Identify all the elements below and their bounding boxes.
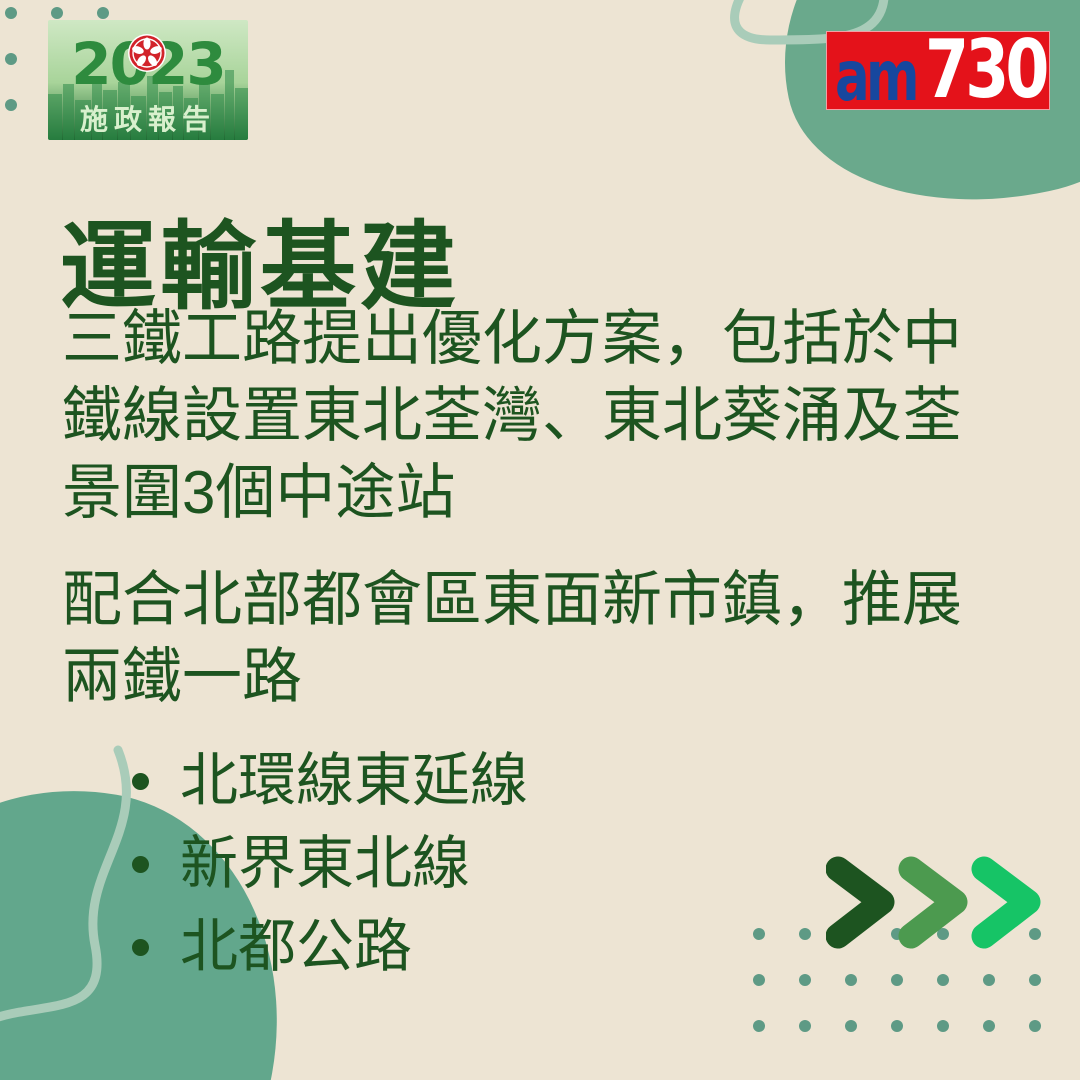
forward-chevrons-icon [826,855,1041,950]
paragraph-1: 三鐵工路提出優化方案，包括於中鐵線設置東北荃灣、東北葵涌及荃景圍3個中途站 [62,300,977,531]
chevron-right-icon-2 [911,869,955,936]
paragraph-2: 配合北部都會區東面新市鎮，推展兩鐵一路 [62,561,1002,715]
am730-logo[interactable]: am 730 [826,31,1050,110]
chevron-right-icon-1 [838,869,882,936]
policy-address-logo-badge: 2023 施政報告 [48,20,248,140]
list-item: 北環線東延線 [132,739,1002,822]
infographic-canvas: 2023 施政報告 am 730 運輸基建 [0,0,1080,1080]
hong-kong-bauhinia-emblem [128,34,166,72]
chevron-right-icon-3 [984,869,1028,936]
badge-subtitle: 施政報告 [80,103,216,136]
am730-prefix: am [835,31,916,110]
am730-number: 730 [925,31,1046,110]
